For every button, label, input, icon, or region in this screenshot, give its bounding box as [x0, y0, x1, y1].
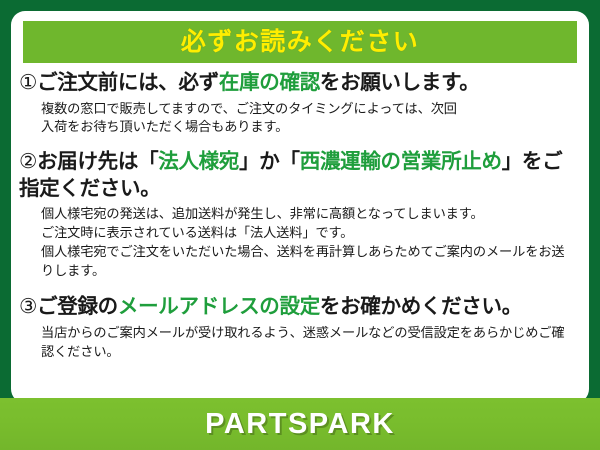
- footer-bar: PARTSPARK: [0, 398, 600, 450]
- item-2-heading-before: お届け先は「: [37, 150, 158, 173]
- notice-item-3-heading: ③ご登録のメールアドレスの設定をお確かめください。: [19, 294, 581, 321]
- item-3-heading-after: をお確かめください。: [320, 295, 522, 318]
- notice-item-2-body: 個人様宅宛の発送は、追加送料が発生し、非常に高額となってしまいます。 ご注文時に…: [41, 205, 571, 280]
- notice-item-1: ①ご注文前には、必ず在庫の確認をお願いします。 複数の窓口で販売してますので、ご…: [19, 70, 581, 137]
- notice-item-2-heading: ②お届け先は「法人様宛」か「西濃運輸の営業所止め」をご指定ください。: [19, 149, 581, 202]
- item-number-1: ①: [19, 71, 37, 94]
- notice-item-2: ②お届け先は「法人様宛」か「西濃運輸の営業所止め」をご指定ください。 個人様宅宛…: [19, 149, 581, 280]
- item-2-heading-highlight-2: 西濃運輸の営業所止め: [300, 150, 502, 173]
- notice-item-1-body: 複数の窓口で販売してますので、ご注文のタイミングによっては、次回 入荷をお待ち頂…: [41, 100, 571, 137]
- item-3-heading-highlight: メールアドレスの設定: [118, 295, 320, 318]
- item-number-3: ③: [19, 295, 37, 318]
- item-1-body-line-2: 入荷をお待ち頂いただく場合もあります。: [41, 118, 571, 137]
- item-2-body-line-1: 個人様宅宛の発送は、追加送料が発生し、非常に高額となってしまいます。: [41, 205, 571, 224]
- item-2-body-line-2: ご注文時に表示されている送料は「法人送料」です。: [41, 224, 571, 243]
- notice-card: 必ずお読みください ①ご注文前には、必ず在庫の確認をお願いします。 複数の窓口で…: [0, 0, 600, 450]
- item-2-body-line-3: 個人様宅宛でご注文をいただいた場合、送料を再計算しあらためてご案内のメールをお送…: [41, 243, 571, 280]
- title-banner: 必ずお読みください: [23, 21, 577, 63]
- content-panel: 必ずお読みください ①ご注文前には、必ず在庫の確認をお願いします。 複数の窓口で…: [11, 11, 589, 403]
- item-number-2: ②: [19, 150, 37, 173]
- notice-item-1-heading: ①ご注文前には、必ず在庫の確認をお願いします。: [19, 70, 581, 97]
- item-1-heading-highlight: 在庫の確認: [219, 71, 320, 94]
- item-1-heading-before: ご注文前には、必ず: [37, 71, 219, 94]
- item-3-heading-before: ご登録の: [37, 295, 118, 318]
- notice-items-list: ①ご注文前には、必ず在庫の確認をお願いします。 複数の窓口で販売してますので、ご…: [11, 68, 589, 364]
- item-1-heading-after: をお願いします。: [320, 71, 480, 94]
- item-1-body-line-1: 複数の窓口で販売してますので、ご注文のタイミングによっては、次回: [41, 100, 571, 119]
- item-2-heading-middle: 」か「: [239, 150, 300, 173]
- notice-item-3-body: 当店からのご案内メールが受け取れるよう、迷惑メールなどの受信設定をあらかじめご確…: [41, 324, 571, 361]
- notice-item-3: ③ご登録のメールアドレスの設定をお確かめください。 当店からのご案内メールが受け…: [19, 294, 581, 361]
- brand-logo: PARTSPARK: [205, 410, 395, 439]
- item-2-heading-highlight-1: 法人様宛: [158, 150, 239, 173]
- page-title: 必ずお読みください: [181, 30, 420, 55]
- item-3-body-line-1: 当店からのご案内メールが受け取れるよう、迷惑メールなどの受信設定をあらかじめご確…: [41, 324, 571, 361]
